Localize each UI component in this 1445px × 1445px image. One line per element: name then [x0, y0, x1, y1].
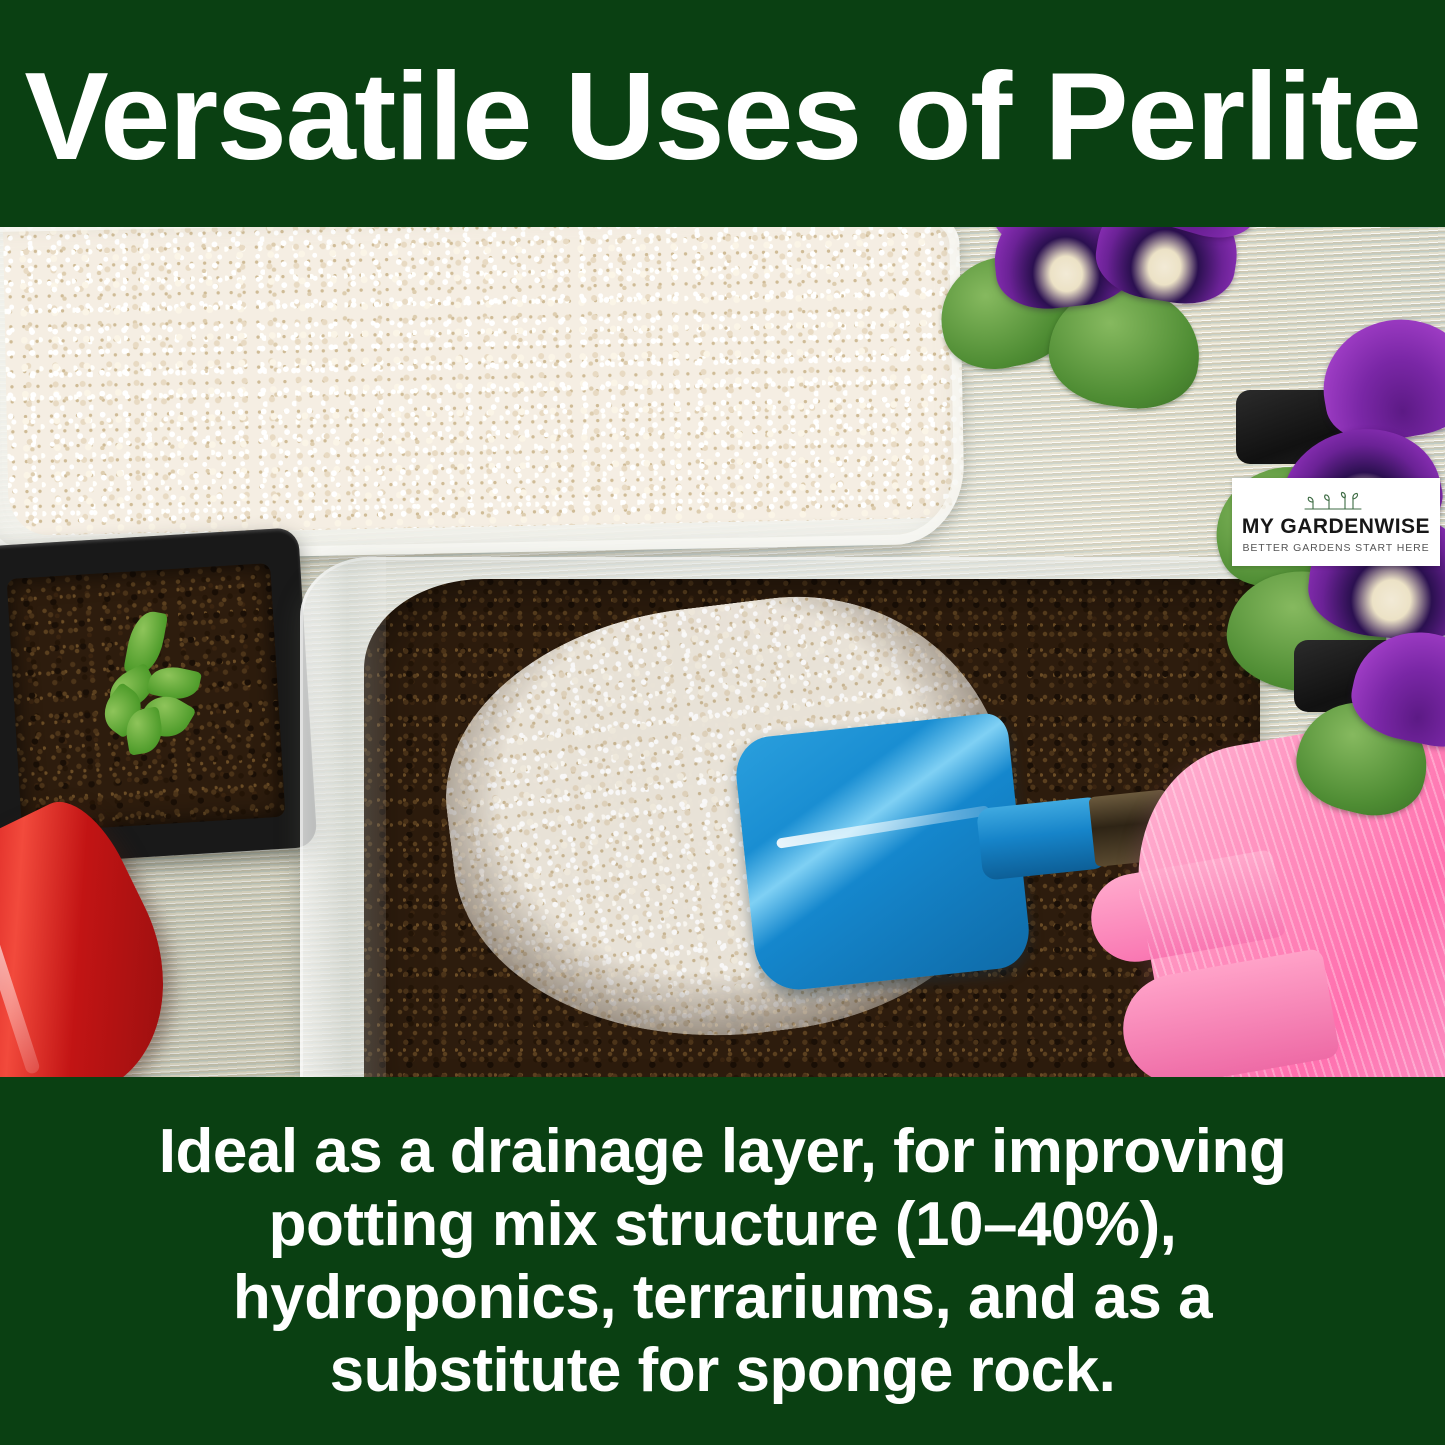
seedling-plant	[93, 612, 231, 760]
container-lip	[300, 557, 386, 1077]
perlite-granules	[2, 227, 965, 536]
three-sprouts-icon	[1301, 491, 1371, 513]
pansy-cluster-lower-right	[1308, 633, 1445, 833]
footer-band: Ideal as a drainage layer, for improving…	[0, 1077, 1445, 1445]
logo-tagline: BETTER GARDENS START HERE	[1242, 542, 1429, 554]
trowel-neck	[976, 796, 1108, 881]
photo-panel: MY GARDENWISE BETTER GARDENS START HERE	[0, 227, 1445, 1077]
logo-name: MY GARDENWISE	[1242, 516, 1430, 537]
pansy-cluster-top	[940, 227, 1270, 427]
header-band: Versatile Uses of Perlite	[0, 0, 1445, 227]
perlite-tray	[0, 227, 965, 562]
caption-text: Ideal as a drainage layer, for improving…	[68, 1115, 1378, 1408]
brand-logo[interactable]: MY GARDENWISE BETTER GARDENS START HERE	[1232, 478, 1440, 566]
page-title: Versatile Uses of Perlite	[25, 55, 1421, 179]
infographic-card: Versatile Uses of Perlite	[0, 0, 1445, 1445]
